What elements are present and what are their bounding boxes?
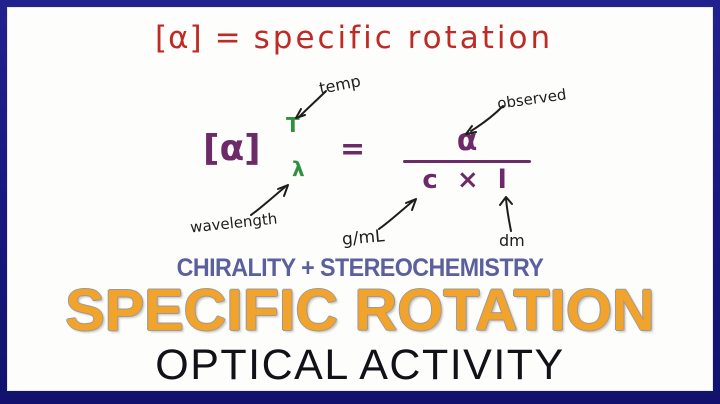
- equation-subscript-wavelength: λ: [292, 159, 305, 179]
- video-thumbnail: [α]=specific rotation [α] T λ = α c × l: [0, 0, 720, 404]
- annotation-concentration-units: g/mL: [341, 226, 385, 250]
- annotation-temp: temp: [318, 71, 363, 98]
- equation-lhs-alpha-bracket: [α]: [203, 131, 261, 167]
- arrow-dm-to-path-length: [497, 195, 523, 233]
- annotation-path-length-units: dm: [499, 231, 525, 250]
- definition-text: specific rotation: [254, 20, 554, 56]
- equation-equals-sign: =: [340, 135, 365, 165]
- annotation-observed: observed: [496, 85, 567, 113]
- annotation-wavelength: wavelength: [189, 209, 278, 236]
- fraction-denominator-c-times-l: c × l: [403, 166, 531, 195]
- title-block: CHIRALITY + STEREOCHEMISTRY SPECIFIC ROT…: [7, 256, 713, 387]
- handwritten-definition-line: [α]=specific rotation: [155, 23, 553, 54]
- equals-sign: =: [203, 20, 254, 56]
- fraction-bar: [403, 160, 531, 163]
- alpha-bracket-symbol: [α]: [155, 20, 203, 56]
- title-secondary-heading: OPTICAL ACTIVITY: [7, 344, 713, 387]
- title-main-heading: SPECIFIC ROTATION: [0, 283, 720, 340]
